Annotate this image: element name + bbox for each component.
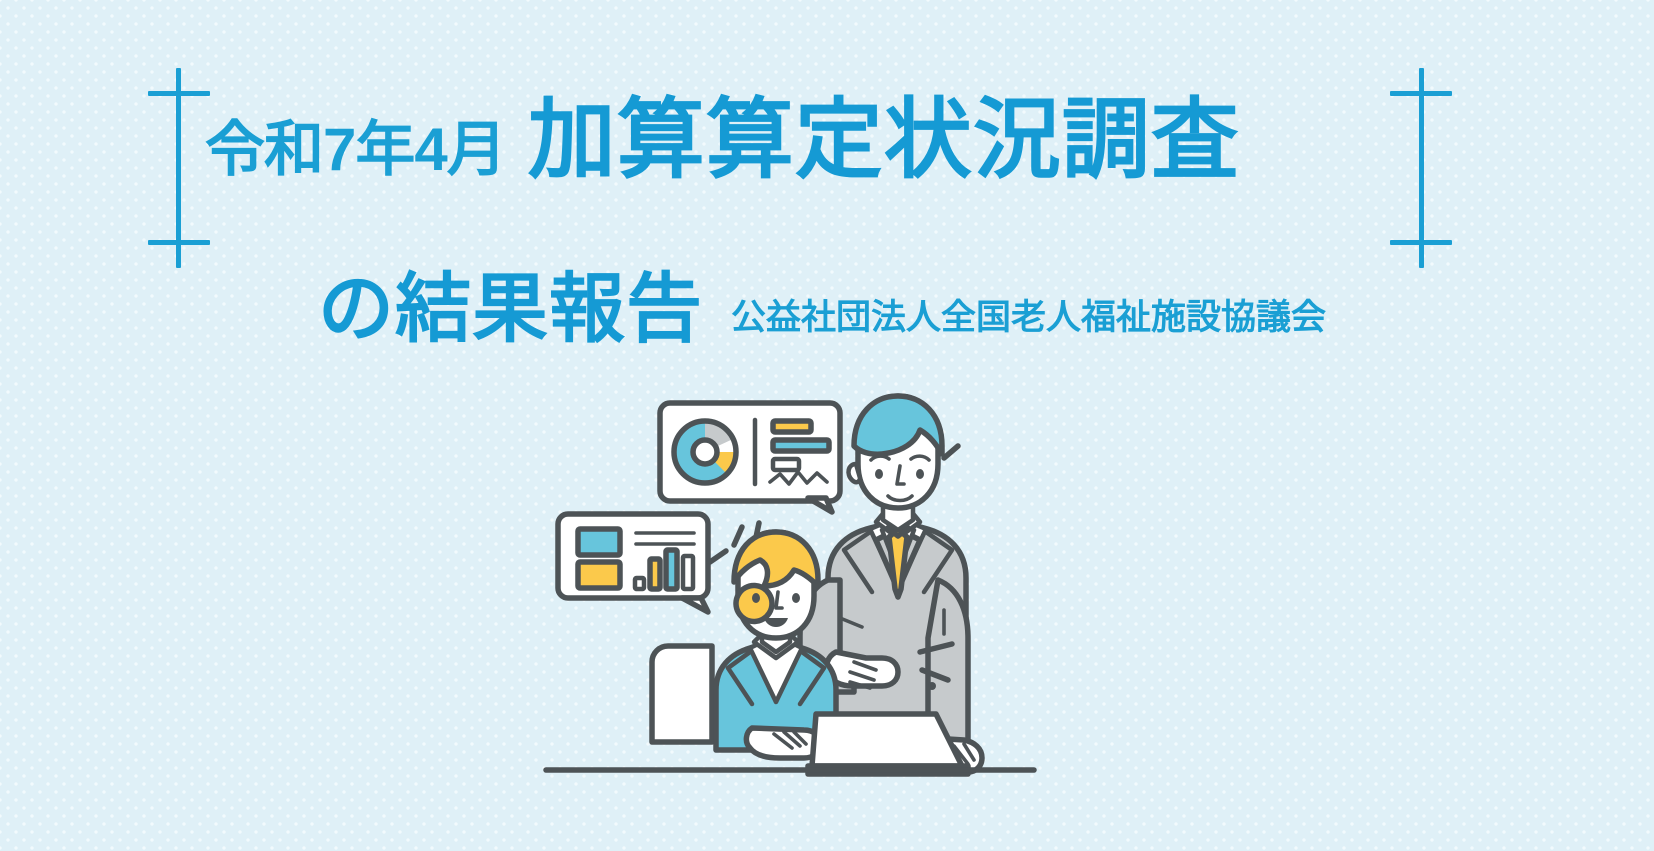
donut-chart-icon	[674, 421, 736, 483]
organization-name: 公益社団法人全国老人福祉施設協議会	[731, 300, 1326, 335]
bracket-top-crossbar	[148, 91, 210, 96]
bracket-right-icon	[1382, 68, 1452, 268]
woman-hands	[746, 728, 820, 758]
speech-bubble-lower	[558, 514, 708, 612]
bracket-top-crossbar	[1390, 91, 1452, 96]
bracket-bottom-crossbar	[148, 240, 210, 245]
bracket-vertical-bar	[176, 68, 181, 268]
two-people-reviewing-data-illustration: .ln { fill:none; stroke:#4d5356; stroke-…	[540, 390, 1080, 790]
headline-first-line: 令和7年4月 加算算定状況調査	[205, 96, 1240, 184]
headline-main-title: 加算算定状況調査	[528, 96, 1240, 184]
slide-canvas: 令和7年4月 加算算定状況調査 の結果報告 公益社団法人全国老人福祉施設協議会 …	[0, 0, 1654, 851]
speech-bubble-upper	[660, 403, 840, 512]
bracket-vertical-bar	[1419, 68, 1424, 268]
bracket-bottom-crossbar	[1390, 240, 1452, 245]
headline-date-prefix: 令和7年4月	[205, 120, 506, 180]
headline-title-suffix: の結果報告	[318, 272, 703, 348]
headline-second-line: の結果報告 公益社団法人全国老人福祉施設協議会	[318, 272, 1326, 348]
